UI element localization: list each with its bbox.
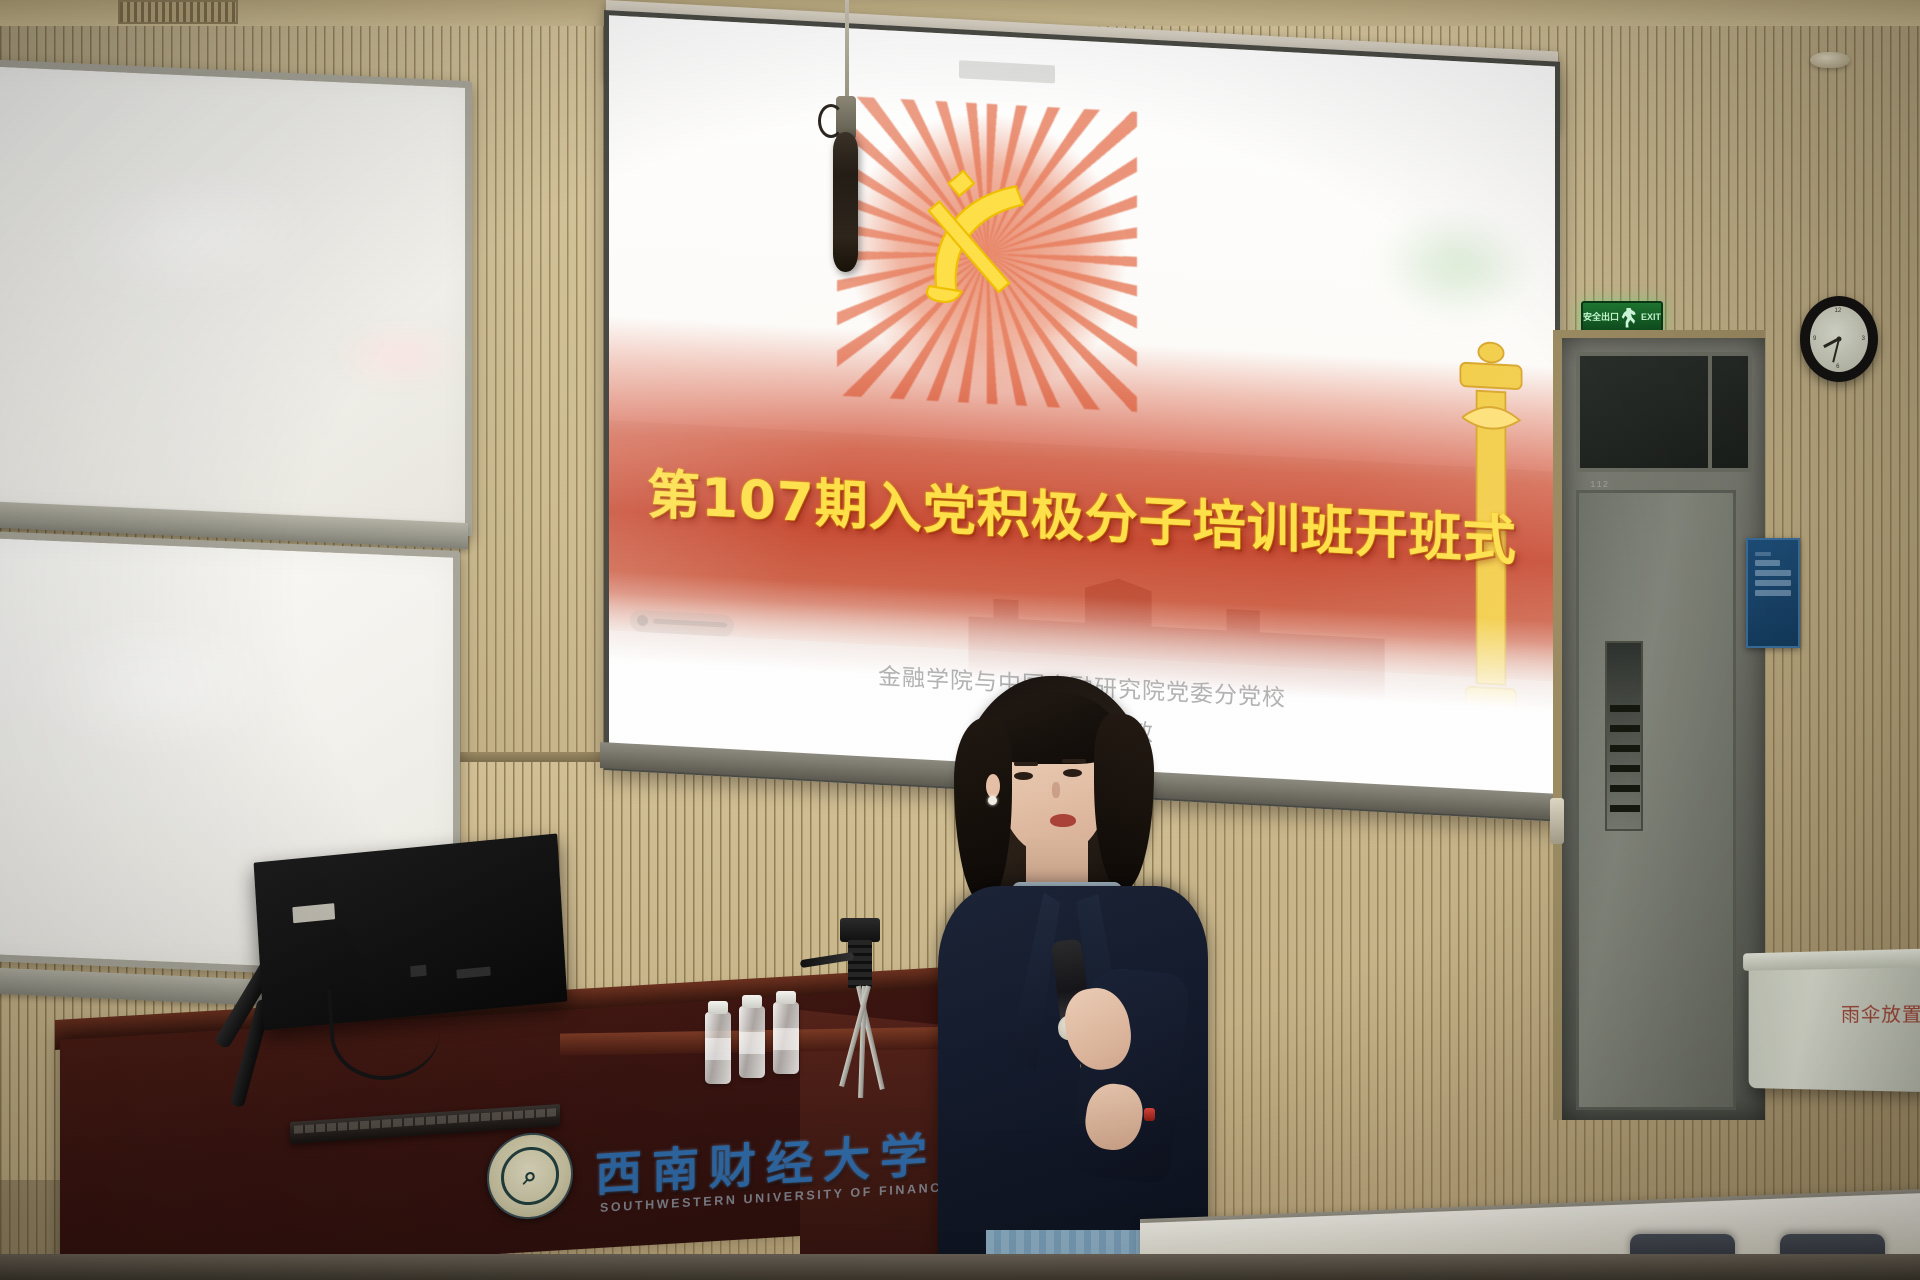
speaker-earring bbox=[988, 796, 997, 805]
clock-numeral: 3 bbox=[1862, 336, 1865, 342]
room-number-label: 112 bbox=[1590, 480, 1609, 490]
speaker-eyebrow bbox=[1062, 759, 1086, 763]
clock-face: 12 3 6 9 bbox=[1810, 306, 1868, 372]
door-handle[interactable] bbox=[1550, 798, 1564, 844]
floor bbox=[0, 1254, 1920, 1280]
watermark-bar bbox=[653, 619, 727, 628]
bottle-cap bbox=[776, 991, 796, 1004]
door-transom-window bbox=[1576, 352, 1752, 472]
umbrella-bin-label: 雨伞放置 bbox=[1841, 999, 1920, 1027]
clock-numeral: 9 bbox=[1813, 336, 1816, 342]
tripod-neck bbox=[848, 940, 872, 988]
university-seal-monogram: ⌕ bbox=[501, 1145, 559, 1206]
ceiling-microphone-cable bbox=[845, 0, 849, 100]
door-louvre-icon bbox=[1610, 725, 1640, 732]
clock-center-pin bbox=[1837, 337, 1842, 342]
sign-text-line bbox=[1755, 580, 1791, 586]
exit-sign-label: EXIT bbox=[1641, 313, 1661, 322]
door-louvre-icon bbox=[1610, 785, 1640, 792]
door-louvre-icon bbox=[1610, 765, 1640, 772]
hammer-and-sickle-icon bbox=[897, 143, 1077, 333]
umbrella-bin[interactable]: 雨伞放置 bbox=[1749, 958, 1920, 1092]
sign-text-line bbox=[1755, 560, 1780, 566]
ceiling-vent-grille bbox=[118, 0, 238, 24]
speaker-eye bbox=[1063, 769, 1082, 777]
watermark-dot-icon bbox=[637, 615, 648, 627]
lecture-hall-scene: 第107期入党积极分子培训班开班式 金融学院与中国金融研究院党委分党校 主讲人：… bbox=[0, 0, 1920, 1280]
exit-door-frame: 112 bbox=[1553, 330, 1765, 1120]
screen-reflection-glow bbox=[1376, 207, 1536, 326]
sign-text-line bbox=[1755, 552, 1771, 556]
bottle-cap bbox=[708, 1001, 728, 1014]
wall-clock: 12 3 6 9 bbox=[1800, 296, 1878, 382]
wall-information-sign bbox=[1746, 538, 1800, 648]
speaker-eyebrow bbox=[1014, 762, 1038, 766]
door-louvre-icon bbox=[1610, 805, 1640, 812]
speaker-nose bbox=[1052, 782, 1060, 798]
sign-text-line bbox=[1755, 590, 1791, 596]
ceiling-microphone bbox=[833, 132, 858, 272]
speaker-ear bbox=[986, 774, 1000, 798]
smoke-detector-icon bbox=[1810, 52, 1850, 68]
sign-text-line bbox=[1755, 570, 1791, 576]
speaker-eye bbox=[1014, 772, 1033, 780]
running-man-icon bbox=[1621, 308, 1639, 328]
whiteboard-glare-pink bbox=[330, 320, 470, 390]
bottle-label bbox=[739, 1032, 765, 1054]
umbrella-bin-rim bbox=[1743, 948, 1920, 970]
whiteboard-glare bbox=[54, 157, 316, 312]
water-bottle[interactable] bbox=[739, 1006, 765, 1078]
bottle-label bbox=[705, 1038, 731, 1060]
whiteboard-glare-lower bbox=[20, 610, 280, 760]
bottle-cap bbox=[742, 995, 762, 1008]
monitor-port-icon bbox=[456, 967, 490, 979]
water-bottle[interactable] bbox=[705, 1012, 731, 1084]
door-vision-panel bbox=[1605, 641, 1643, 831]
door-louvre-icon bbox=[1610, 745, 1640, 752]
speaker-person bbox=[930, 670, 1260, 1280]
monitor-spec-label bbox=[292, 903, 335, 923]
bottle-label bbox=[773, 1028, 799, 1050]
camera-on-tripod bbox=[840, 918, 880, 942]
speaker-mouth bbox=[1050, 814, 1076, 827]
monitor-port-icon bbox=[410, 965, 427, 978]
speaker-hair-right bbox=[1094, 714, 1154, 890]
clock-numeral: 6 bbox=[1836, 364, 1839, 370]
exit-sign-label-cn: 安全出口 bbox=[1583, 313, 1619, 322]
door-transom-divider bbox=[1708, 356, 1712, 468]
water-bottle[interactable] bbox=[773, 1002, 799, 1074]
door-louvre-icon bbox=[1610, 705, 1640, 712]
party-pin-badge bbox=[1144, 1108, 1155, 1121]
clock-numeral: 12 bbox=[1834, 308, 1841, 314]
exit-door[interactable] bbox=[1576, 490, 1736, 1110]
